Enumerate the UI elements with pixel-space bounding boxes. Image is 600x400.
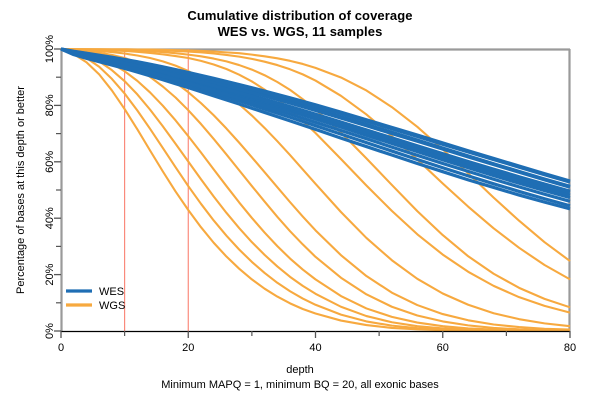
x-axis-sublabel: Minimum MAPQ = 1, minimum BQ = 20, all e… <box>0 379 600 391</box>
x-tick-label: 60 <box>437 342 449 354</box>
y-tick-label: 40% <box>44 207 56 229</box>
y-tick-label: 0% <box>44 323 56 339</box>
x-tick-label: 80 <box>564 342 576 354</box>
plot-background <box>61 49 570 331</box>
y-tick-label: 20% <box>44 263 56 285</box>
plot-canvas: 0%20%40%60%80%100%020406080WESWGS <box>0 0 600 400</box>
y-tick-label: 80% <box>44 94 56 116</box>
legend-label-wgs: WGS <box>99 300 125 312</box>
x-tick-label: 20 <box>182 342 194 354</box>
x-tick-label: 40 <box>309 342 321 354</box>
y-tick-label: 60% <box>44 151 56 173</box>
x-axis-label: depth <box>0 364 600 376</box>
x-tick-label: 0 <box>58 342 64 354</box>
y-tick-label: 100% <box>44 35 56 63</box>
legend-label-wes: WES <box>99 286 124 298</box>
chart-figure: Cumulative distribution of coverage WES … <box>0 0 600 400</box>
